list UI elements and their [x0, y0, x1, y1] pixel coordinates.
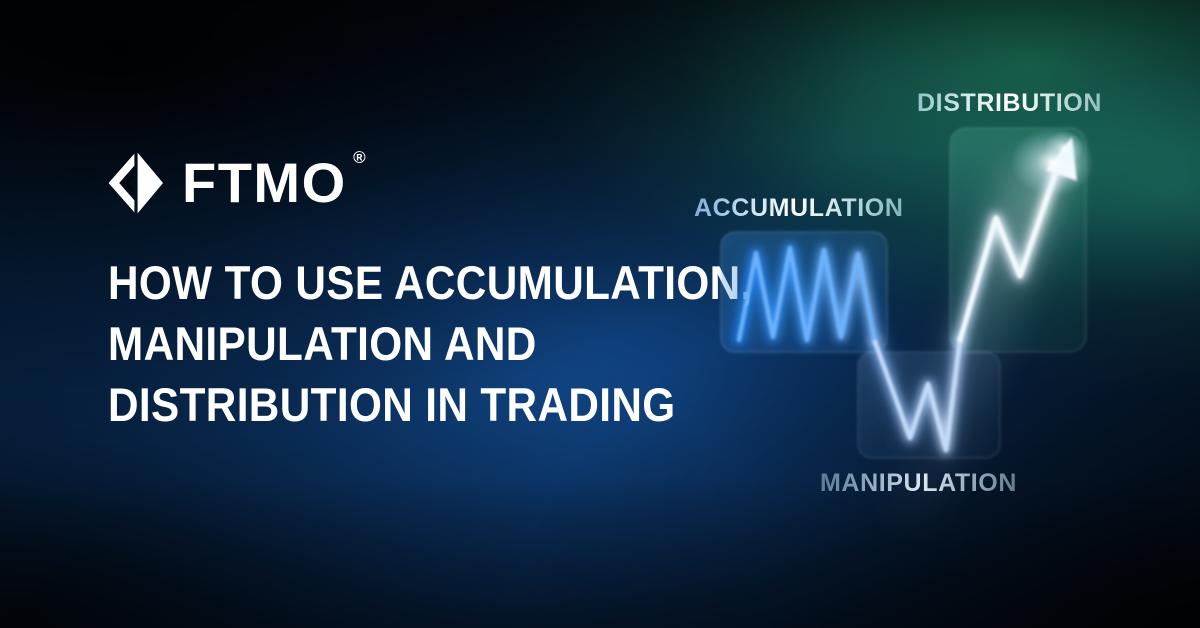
- ftmo-logo[interactable]: FTMO®: [108, 152, 347, 214]
- ftmo-wordmark-text: FTMO: [182, 151, 347, 214]
- page-title-line-2: MANIPULATION AND: [108, 313, 684, 374]
- registered-trademark-symbol: ®: [353, 149, 366, 166]
- article-cover: FTMO® HOW TO USE ACCUMULATION, MANIPULAT…: [0, 0, 1200, 628]
- label-accumulation: ACCUMULATION: [694, 196, 903, 221]
- page-title-line-3: DISTRIBUTION IN TRADING: [108, 374, 684, 435]
- page-title-line-1: HOW TO USE ACCUMULATION,: [108, 252, 684, 313]
- ftmo-wordmark: FTMO®: [182, 155, 347, 211]
- label-manipulation: MANIPULATION: [820, 471, 1017, 496]
- ftmo-diamond-logo-icon: [108, 152, 164, 214]
- arrow-tip-core-glow: [1044, 131, 1084, 165]
- page-title: HOW TO USE ACCUMULATION, MANIPULATION AN…: [108, 252, 684, 435]
- label-distribution: DISTRIBUTION: [917, 91, 1102, 116]
